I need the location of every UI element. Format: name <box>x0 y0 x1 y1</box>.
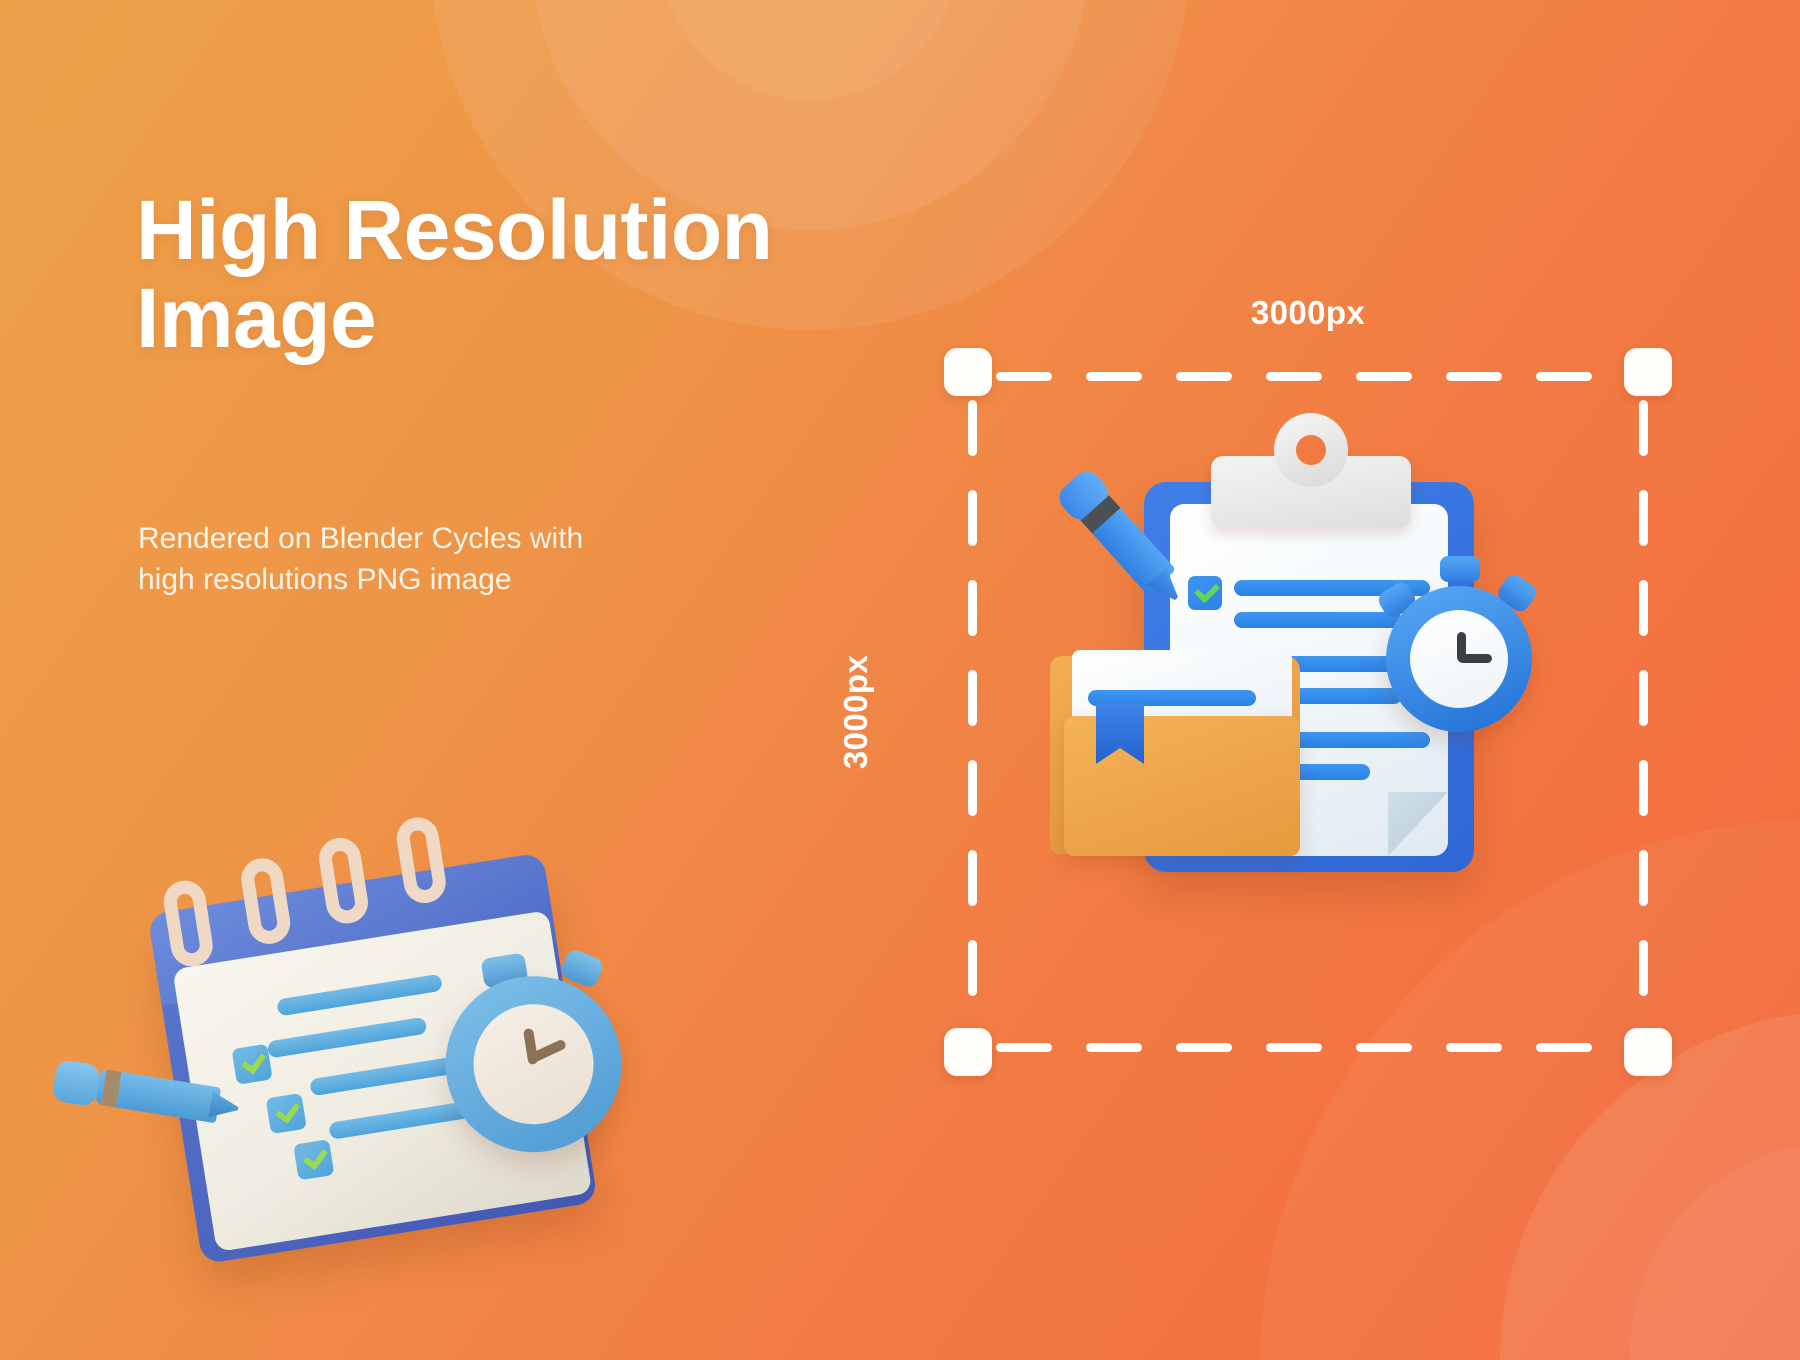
frame-dashed-edge-right <box>1639 372 1648 1052</box>
frame-dash <box>968 940 977 996</box>
frame-dash <box>1639 580 1648 636</box>
pen-cap <box>51 1059 101 1107</box>
frame-dash <box>996 372 1052 381</box>
frame-dash <box>1639 940 1648 996</box>
frame-dash <box>968 580 977 636</box>
page-subtitle-line-2: high resolutions PNG image <box>138 559 778 600</box>
frame-dash <box>968 760 977 816</box>
frame-dash <box>1639 490 1648 546</box>
height-dimension-label: 3000px <box>837 655 875 769</box>
resize-handle-top-right[interactable] <box>1624 348 1672 396</box>
resize-handle-top-left[interactable] <box>944 348 992 396</box>
frame-dash <box>968 670 977 726</box>
stopwatch-minute-hand <box>1458 654 1492 663</box>
width-dimension-label: 3000px <box>968 294 1648 332</box>
height-dimension-label-wrap: 3000px <box>832 372 880 1052</box>
resize-handle-bottom-left[interactable] <box>944 1028 992 1076</box>
frame-dash <box>1639 670 1648 726</box>
frame-dash <box>1446 372 1502 381</box>
stopwatch-icon <box>1374 570 1544 740</box>
poster-canvas: High Resolution Image Rendered on Blende… <box>0 0 1800 1360</box>
page-title-line-1: High Resolution <box>136 186 896 274</box>
frame-dash <box>1639 760 1648 816</box>
stopwatch-crown-button <box>1440 556 1480 582</box>
frame-dash <box>1086 1043 1142 1052</box>
clipboard-illustration <box>1058 420 1558 940</box>
decorative-circle-bottom-inner <box>1630 1140 1800 1360</box>
frame-dash <box>1639 850 1648 906</box>
frame-dash <box>1266 1043 1322 1052</box>
page-title-line-2: Image <box>136 274 896 362</box>
frame-dash <box>968 850 977 906</box>
decorative-circle-top-inner <box>660 0 960 100</box>
frame-dash <box>968 490 977 546</box>
stopwatch-icon <box>416 940 644 1165</box>
page-title: High Resolution Image <box>136 186 896 362</box>
checklist-checkbox[interactable] <box>1188 576 1222 610</box>
notepad-illustration <box>23 775 717 1360</box>
frame-dash <box>1176 372 1232 381</box>
frame-dash <box>1536 372 1592 381</box>
frame-dash <box>1536 1043 1592 1052</box>
frame-dash <box>1356 372 1412 381</box>
frame-dash <box>1086 372 1142 381</box>
notepad-checkbox[interactable] <box>293 1139 334 1180</box>
frame-dash <box>1356 1043 1412 1052</box>
frame-dash <box>1639 400 1648 456</box>
page-subtitle-line-1: Rendered on Blender Cycles with <box>138 518 778 559</box>
frame-dash <box>968 400 977 456</box>
frame-dash <box>996 1043 1052 1052</box>
frame-dashed-edge-bottom <box>968 1043 1648 1052</box>
frame-dash <box>1176 1043 1232 1052</box>
folder-icon <box>1050 656 1300 856</box>
frame-dashed-edge-left <box>968 372 977 1052</box>
page-subtitle: Rendered on Blender Cycles with high res… <box>138 518 778 601</box>
resize-handle-bottom-right[interactable] <box>1624 1028 1672 1076</box>
frame-dash <box>1266 372 1322 381</box>
frame-dashed-edge-top <box>968 372 1648 381</box>
clipboard-clip-hole <box>1296 435 1326 465</box>
frame-dash <box>1446 1043 1502 1052</box>
notepad-checkbox[interactable] <box>266 1093 307 1134</box>
notepad-checkbox[interactable] <box>231 1044 272 1085</box>
